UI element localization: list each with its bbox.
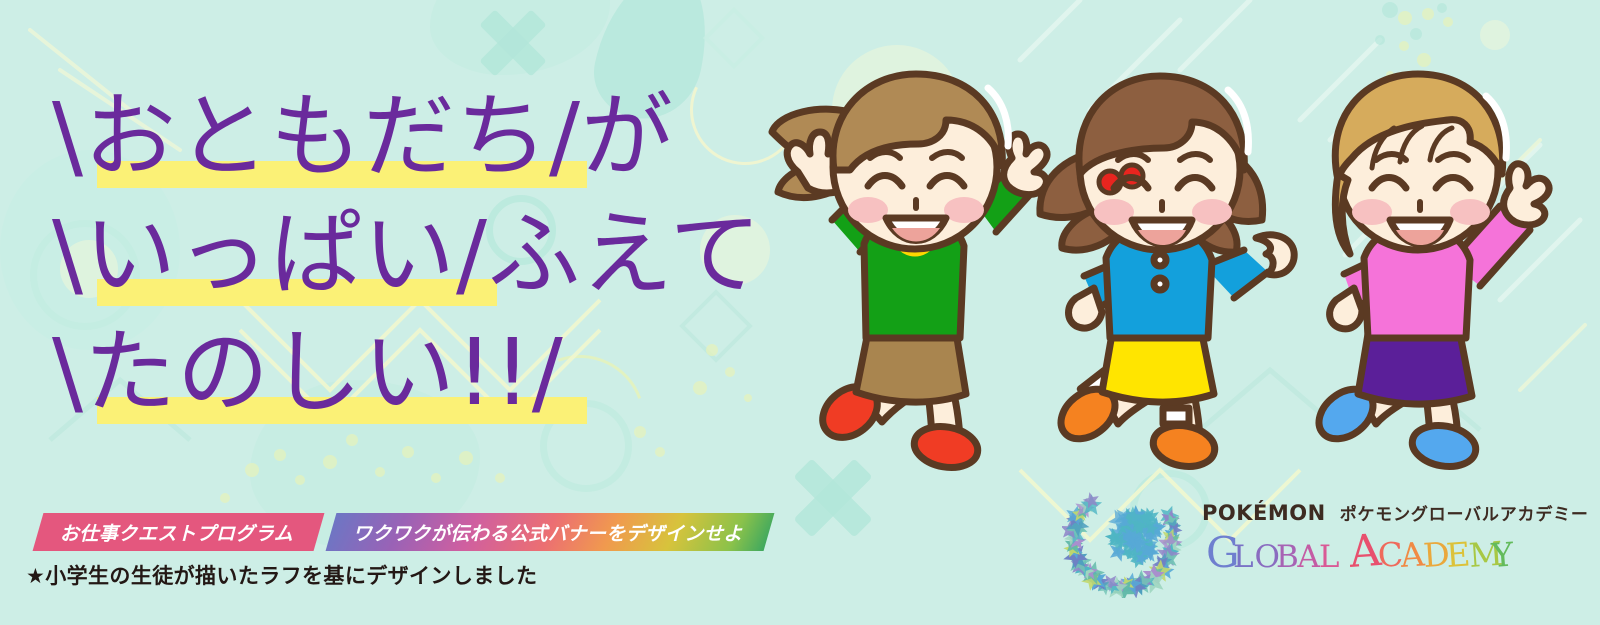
logo-text-block: POKÉMON ポケモングローバルアカデミー GLOBALACADEMY — [1202, 500, 1589, 577]
bg-cross-shape — [476, 6, 549, 79]
pokemon-global-academy-logo: POKÉMON ポケモングローバルアカデミー GLOBALACADEMY — [1062, 478, 1589, 598]
svg-text:L: L — [1319, 539, 1340, 575]
headline-line-1: \おともだち/が — [52, 78, 762, 196]
badge-program-label: お仕事クエストプログラム — [60, 519, 293, 546]
headline-line-2-text: \いっぱい/ふえて — [52, 209, 762, 301]
star-spiral-logo-mark — [1062, 478, 1194, 598]
svg-text:B: B — [1276, 539, 1299, 575]
badge-mission-label: ワクワクが伝わる公式バナーをデザインせよ — [353, 519, 743, 546]
character-girl-pink — [1268, 62, 1568, 452]
caption-note: ★小学生の生徒が描いたラフを基にデザインしました — [26, 560, 537, 590]
bg-cross-shape — [790, 455, 876, 541]
badge-program: お仕事クエストプログラム — [33, 513, 325, 551]
logo-brand-japanese: ポケモングローバルアカデミー — [1340, 500, 1589, 525]
logo-brand-line: POKÉMON ポケモングローバルアカデミー — [1202, 500, 1589, 525]
headline-line-2: \いっぱい/ふえて — [52, 196, 762, 314]
bg-soft-circle — [1480, 20, 1510, 50]
svg-text:A: A — [1296, 539, 1320, 575]
promo-banner: \おともだち/が \いっぱい/ふえて \たのしい!!/ — [0, 0, 1600, 625]
headline-block: \おともだち/が \いっぱい/ふえて \たのしい!!/ — [52, 78, 762, 432]
svg-text:Y: Y — [1489, 534, 1516, 575]
headline-line-1-text: \おともだち/が — [52, 91, 674, 183]
character-girl-blue — [1018, 62, 1298, 452]
logo-brand-pokemon: POKÉMON — [1202, 501, 1326, 525]
bg-diamond — [703, 7, 765, 69]
svg-text:L: L — [1233, 539, 1254, 575]
badge-row: お仕事クエストプログラム ワクワクが伝わる公式バナーをデザインせよ — [38, 513, 769, 551]
headline-line-3-text: \たのしい!!/ — [52, 327, 564, 419]
headline-line-3: \たのしい!!/ — [52, 314, 762, 432]
logo-wordmark: GLOBALACADEMY — [1202, 527, 1589, 577]
character-girl-green — [760, 62, 1050, 452]
badge-mission: ワクワクが伝わる公式バナーをデザインせよ — [326, 513, 775, 551]
bg-blob — [430, 0, 610, 75]
